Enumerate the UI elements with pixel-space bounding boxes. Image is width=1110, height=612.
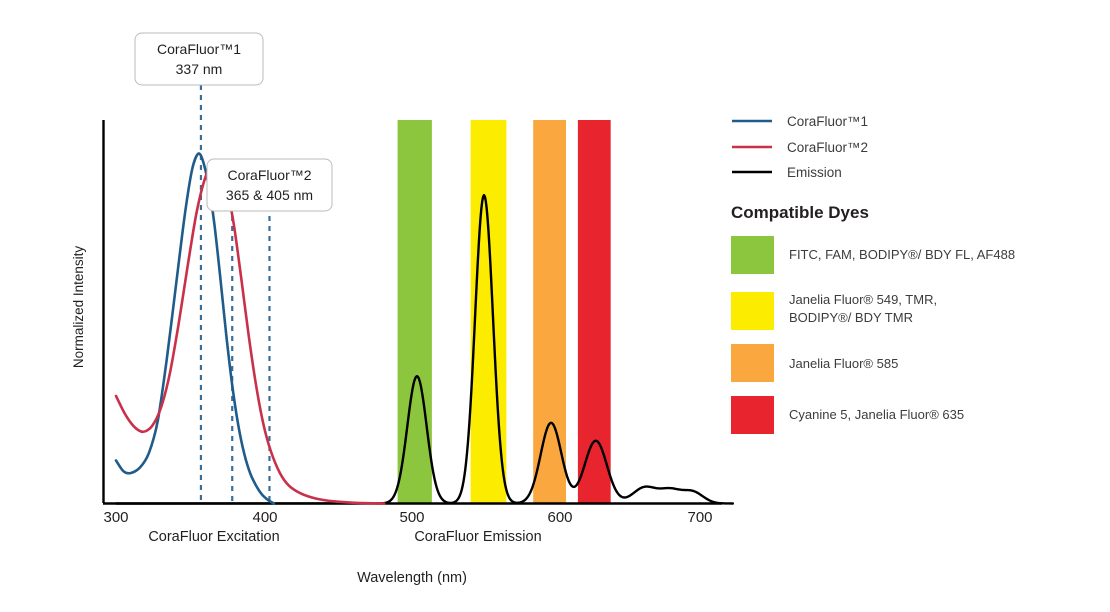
x-tick-300: 300 bbox=[103, 509, 128, 526]
callout-corafluor2: CoraFluor™2 365 & 405 nm bbox=[207, 159, 332, 211]
callout-corafluor1: CoraFluor™1 337 nm bbox=[135, 33, 263, 85]
callout-corafluor2-line1: CoraFluor™2 bbox=[227, 167, 311, 183]
region-label-emission: CoraFluor Emission bbox=[414, 529, 541, 545]
dye-swatch-orange bbox=[731, 344, 774, 382]
dye-swatch-red bbox=[731, 396, 774, 434]
region-label-excitation: CoraFluor Excitation bbox=[148, 529, 279, 545]
legend-label-emission: Emission bbox=[787, 165, 842, 180]
dye-label-green-line1: FITC, FAM, BODIPY®/ BDY FL, AF488 bbox=[789, 247, 1015, 262]
dye-swatch-green bbox=[731, 236, 774, 274]
callout-corafluor1-line1: CoraFluor™1 bbox=[157, 41, 241, 57]
dye-label-yellow-line1: Janelia Fluor® 549, TMR, bbox=[789, 292, 937, 307]
emission-band-red bbox=[578, 120, 611, 503]
dye-label-yellow-line2: BODIPY®/ BDY TMR bbox=[789, 310, 913, 325]
emission-band-orange bbox=[533, 120, 566, 503]
callout-corafluor2-line2: 365 & 405 nm bbox=[226, 187, 313, 203]
x-tick-500: 500 bbox=[399, 509, 424, 526]
x-tick-700: 700 bbox=[687, 509, 712, 526]
dye-swatch-yellow bbox=[731, 292, 774, 330]
dye-item-yellow[interactable]: Janelia Fluor® 549, TMR, BODIPY®/ BDY TM… bbox=[731, 292, 937, 330]
dye-label-orange-line1: Janelia Fluor® 585 bbox=[789, 356, 898, 371]
x-axis-title: Wavelength (nm) bbox=[357, 570, 467, 586]
compatible-dyes-heading: Compatible Dyes bbox=[731, 203, 869, 222]
emission-band-green bbox=[398, 120, 432, 503]
callout-corafluor1-line2: 337 nm bbox=[176, 61, 223, 77]
x-tick-400: 400 bbox=[252, 509, 277, 526]
y-axis-title: Normalized Intensity bbox=[71, 246, 86, 369]
spectra-figure: CoraFluor™1 337 nm CoraFluor™2 365 & 405… bbox=[0, 0, 1110, 612]
legend-label-corafluor1: CoraFluor™1 bbox=[787, 114, 868, 129]
x-tick-600: 600 bbox=[547, 509, 572, 526]
dye-label-red-line1: Cyanine 5, Janelia Fluor® 635 bbox=[789, 407, 964, 422]
legend-label-corafluor2: CoraFluor™2 bbox=[787, 140, 868, 155]
